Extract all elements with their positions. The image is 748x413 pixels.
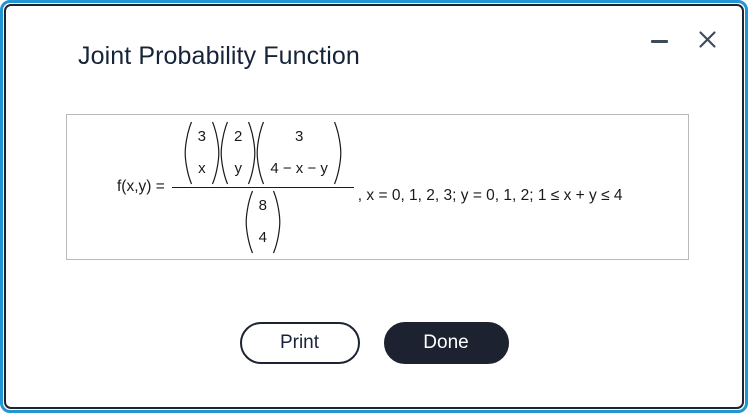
formula-fraction: 3 x xyxy=(172,121,354,254)
titlebar: Joint Probability Function xyxy=(6,6,742,84)
left-paren-icon xyxy=(245,190,254,254)
binomial-bottom-denominator: 4 xyxy=(257,227,269,248)
right-paren-icon xyxy=(272,190,281,254)
formula-expression: f(x,y) = 3 x xyxy=(117,115,623,259)
binomial-bottom-3: 4 − x − y xyxy=(268,158,330,179)
print-button[interactable]: Print xyxy=(240,322,360,364)
right-paren-icon xyxy=(247,121,256,185)
dialog-window-inner: Joint Probability Function f xyxy=(4,4,744,409)
right-paren-icon xyxy=(333,121,342,185)
binomial-bottom-2: y xyxy=(232,158,244,179)
binomial-stack-denominator: 8 4 xyxy=(254,190,272,253)
binomial-coefficient-2: 2 y xyxy=(220,121,256,185)
minimize-button[interactable] xyxy=(646,28,672,54)
fraction-numerator: 3 x xyxy=(180,121,346,185)
formula-lhs: f(x,y) = xyxy=(117,178,165,196)
binomial-top-3: 3 xyxy=(293,126,305,147)
close-button[interactable] xyxy=(694,28,720,54)
page-title: Joint Probability Function xyxy=(78,42,360,71)
binomial-stack-2: 2 y xyxy=(229,121,247,184)
done-button[interactable]: Done xyxy=(384,322,509,364)
dialog-window: Joint Probability Function f xyxy=(0,0,748,413)
binomial-bottom-1: x xyxy=(196,158,208,179)
binomial-coefficient-3: 3 4 − x − y xyxy=(256,121,342,185)
formula-panel: f(x,y) = 3 x xyxy=(66,114,689,260)
binomial-coefficient-denominator: 8 4 xyxy=(245,190,281,254)
close-icon xyxy=(698,30,717,52)
binomial-coefficient-1: 3 x xyxy=(184,121,220,185)
binomial-top-2: 2 xyxy=(232,126,244,147)
minimize-icon xyxy=(651,40,668,43)
left-paren-icon xyxy=(256,121,265,185)
binomial-stack-1: 3 x xyxy=(193,121,211,184)
binomial-stack-3: 3 4 − x − y xyxy=(265,121,333,184)
binomial-top-1: 3 xyxy=(196,126,208,147)
formula-condition: , x = 0, 1, 2, 3; y = 0, 1, 2; 1 ≤ x + y… xyxy=(358,187,623,259)
window-controls xyxy=(646,28,720,54)
binomial-top-denominator: 8 xyxy=(257,195,269,216)
left-paren-icon xyxy=(184,121,193,185)
right-paren-icon xyxy=(211,121,220,185)
left-paren-icon xyxy=(220,121,229,185)
dialog-button-bar: Print Done xyxy=(6,322,742,364)
fraction-bar xyxy=(172,187,354,188)
fraction-denominator: 8 4 xyxy=(241,190,285,254)
